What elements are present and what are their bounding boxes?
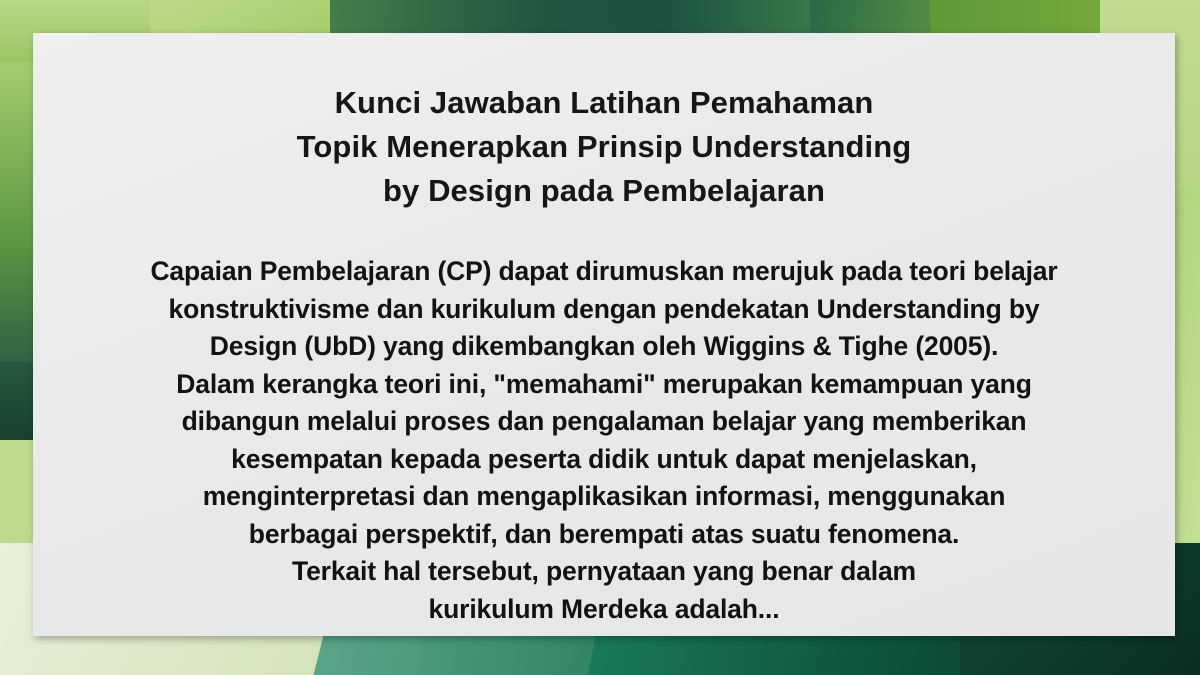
body-line-9: Terkait hal tersebut, pernyataan yang be… <box>93 553 1115 591</box>
title-line-3: by Design pada Pembelajaran <box>93 169 1115 213</box>
body-line-8: berbagai perspektif, dan berempati atas … <box>93 516 1115 554</box>
title-line-1: Kunci Jawaban Latihan Pemahaman <box>93 81 1115 125</box>
body-line-10: kurikulum Merdeka adalah... <box>93 591 1115 629</box>
body-line-7: menginterpretasi dan mengaplikasikan inf… <box>93 478 1115 516</box>
slide-body: Capaian Pembelajaran (CP) dapat dirumusk… <box>93 253 1115 628</box>
body-line-4: Dalam kerangka teori ini, "memahami" mer… <box>93 366 1115 404</box>
content-card: Kunci Jawaban Latihan Pemahaman Topik Me… <box>33 33 1175 636</box>
slide-canvas: Kunci Jawaban Latihan Pemahaman Topik Me… <box>0 0 1200 675</box>
body-line-3: Design (UbD) yang dikembangkan oleh Wigg… <box>93 328 1115 366</box>
body-line-6: kesempatan kepada peserta didik untuk da… <box>93 441 1115 479</box>
slide-title: Kunci Jawaban Latihan Pemahaman Topik Me… <box>93 81 1115 213</box>
body-line-1: Capaian Pembelajaran (CP) dapat dirumusk… <box>93 253 1115 291</box>
body-line-2: konstruktivisme dan kurikulum dengan pen… <box>93 291 1115 329</box>
body-line-5: dibangun melalui proses dan pengalaman b… <box>93 403 1115 441</box>
title-line-2: Topik Menerapkan Prinsip Understanding <box>93 125 1115 169</box>
